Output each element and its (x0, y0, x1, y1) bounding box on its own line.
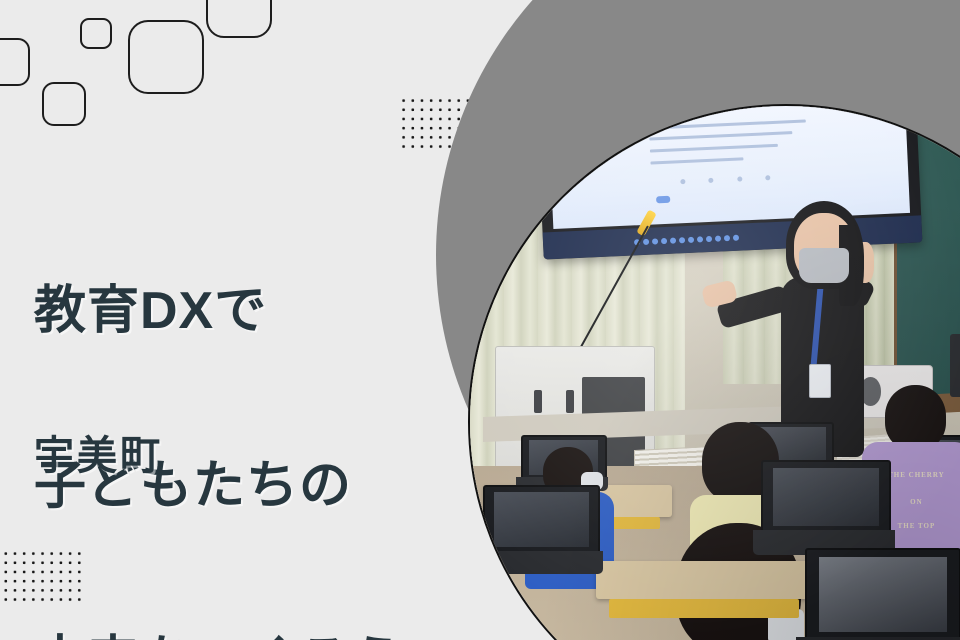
headline-line-1: 教育DXで (34, 282, 405, 340)
rounded-square-icon-4 (128, 20, 204, 94)
desk-mid (596, 561, 811, 599)
water-bottle (950, 334, 960, 397)
teacher-face-mask (799, 248, 850, 283)
laptop-center (761, 460, 887, 555)
headline-line-3: 未来をつくろう (34, 632, 405, 640)
cabinet-handle-2 (566, 390, 574, 413)
classroom-photo: THE CHERRY ON THE TOP (468, 104, 960, 640)
municipality-name: 宇美町 (34, 423, 163, 481)
rounded-square-icon-1 (0, 38, 30, 86)
rounded-square-icon-5 (206, 0, 272, 38)
teacher-id-badge (809, 364, 831, 398)
cabinet-handle-1 (534, 390, 542, 413)
page-title: 教育DXで 子どもたちの 未来をつくろう (34, 166, 405, 640)
desk-frame-mid (609, 599, 799, 618)
rounded-square-icon-2 (42, 82, 86, 126)
classroom-scene: THE CHERRY ON THE TOP (470, 106, 960, 640)
poster-canvas: THE CHERRY ON THE TOP (0, 0, 960, 640)
rounded-square-icon-3 (80, 18, 112, 49)
laptop-foreground (805, 548, 957, 640)
student-head (885, 385, 946, 449)
classroom-photo-image: THE CHERRY ON THE TOP (470, 106, 960, 640)
laptop-left (483, 485, 597, 573)
